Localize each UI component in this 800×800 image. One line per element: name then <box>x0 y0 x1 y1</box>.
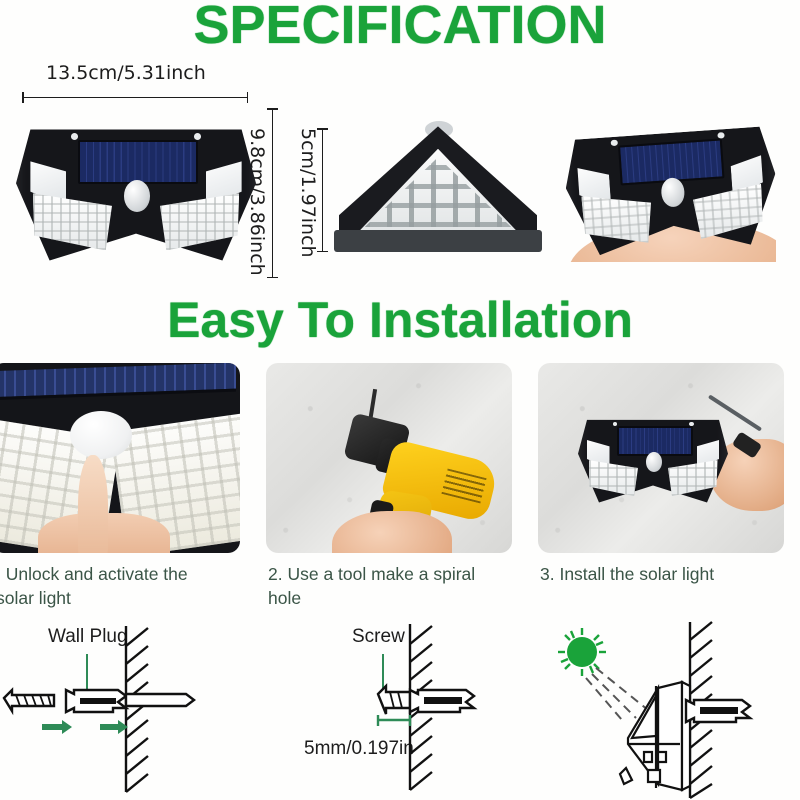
wall-plug-svg <box>0 620 268 800</box>
mounted-light-svg <box>540 620 800 800</box>
dimension-depth-label: 5cm/1.97inch <box>297 128 319 263</box>
dimension-width-line <box>22 97 248 98</box>
screw-size-bracket <box>378 715 410 726</box>
screw-diagram: Screw 5mm/0.197in <box>300 620 540 800</box>
screw-hole-left <box>611 140 618 146</box>
step-1-caption: . Unlock and activate the solar light <box>0 563 226 610</box>
lamp-side-illustration <box>330 118 546 258</box>
inserted-anchor-icon <box>126 694 194 706</box>
solar-lamp-side-view <box>330 118 546 258</box>
dimension-height-line <box>272 108 273 278</box>
lamp-illustration-mounted <box>578 405 728 511</box>
lamp-illustration-small <box>566 112 776 262</box>
dimension-depth-text: 5cm/1.97inch <box>297 128 319 258</box>
dimension-depth-line <box>322 128 323 252</box>
sun-icon <box>558 628 606 676</box>
solar-lamp-front-view <box>16 106 256 274</box>
page-title: SPECIFICATION <box>0 0 800 56</box>
lamp-illustration <box>16 106 256 274</box>
wall-plug-anchor-icon <box>686 700 750 722</box>
section-title-installation: Easy To Installation <box>0 291 800 349</box>
step-1-activate-photo <box>0 363 240 553</box>
solar-light-side-view-icon <box>620 682 690 790</box>
specification-infographic: SPECIFICATION 13.5cm/5.31inch 9.8cm/3.86… <box>0 0 800 800</box>
screw-hole-right <box>194 133 201 140</box>
direction-arrows <box>42 720 128 734</box>
solar-panel <box>78 140 197 184</box>
solar-lamp-in-hand <box>566 112 776 262</box>
motion-sensor <box>646 452 663 472</box>
motion-sensor <box>124 180 150 212</box>
step-2-drill-photo <box>266 363 512 553</box>
wall-plug-anchor-icon <box>66 690 126 712</box>
screw-svg <box>300 620 540 800</box>
motion-sensor-closeup <box>70 411 132 459</box>
step-3-mount-photo <box>538 363 784 553</box>
lamp-side-base <box>334 230 541 252</box>
wall-plug-diagram: Wall Plug <box>0 620 268 800</box>
dimension-width-label: 13.5cm/5.31inch <box>46 62 206 84</box>
mounted-light-diagram <box>540 620 800 800</box>
step-2-caption: 2. Use a tool make a spiral hole <box>268 563 500 610</box>
screw-icon <box>378 686 410 714</box>
step-3-caption: 3. Install the solar light <box>540 563 790 587</box>
wall-plug-anchor-icon <box>410 690 474 712</box>
sun-rays-icon <box>586 668 648 720</box>
mounted-solar-lamp <box>578 405 728 511</box>
pointing-finger <box>78 455 108 553</box>
screw-icon <box>4 690 54 711</box>
screw-hole-left <box>71 133 78 140</box>
